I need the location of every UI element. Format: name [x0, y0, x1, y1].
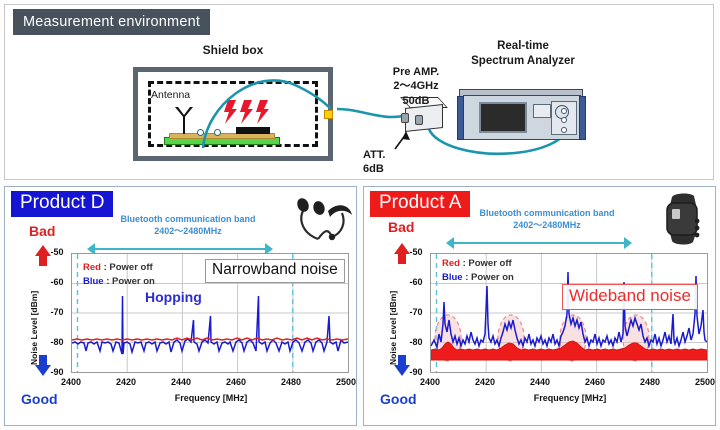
bt-band-title-a: Bluetooth communication band — [442, 207, 652, 219]
preamp-label-line2: 2〜4GHz — [371, 79, 461, 93]
y-tick-a-0: -50 — [405, 247, 427, 257]
measurement-environment-panel: Measurement environment Shield box — [4, 4, 714, 180]
cable-wires — [5, 5, 715, 181]
analyzer-display — [479, 102, 527, 133]
x-tick-d-2: 2440 — [163, 377, 199, 387]
legend-a: Red : Power off Blue : Power on — [442, 257, 514, 285]
bt-band-arrow-a — [446, 237, 632, 249]
legend-sep-d-1: : — [106, 276, 109, 287]
bt-band-range-d: 2402〜2480MHz — [83, 225, 293, 237]
x-tick-a-1: 2420 — [467, 377, 503, 387]
bad-label-d: Bad — [29, 223, 55, 239]
narrowband-noise-callout: Narrowband noise — [205, 259, 345, 283]
y-axis-label-d: Noise Level [dBm] — [29, 291, 39, 365]
analyzer-label: Real-time Spectrum Analyzer — [457, 39, 589, 69]
x-axis-label-d: Frequency [MHz] — [131, 393, 291, 403]
preamp-output-connector — [415, 115, 423, 125]
att-label: ATT. 6dB — [363, 149, 409, 177]
y-tick-d-2: -70 — [46, 307, 68, 317]
legend-d: Red : Power off Blue : Power on — [83, 261, 155, 289]
good-label-d: Good — [21, 391, 58, 407]
legend-value-a-1: Power on — [471, 272, 514, 283]
legend-value-a-0: Power off — [468, 258, 511, 269]
att-pointer-arrow — [391, 129, 415, 151]
x-tick-a-4: 2480 — [632, 377, 668, 387]
preamp-box-icon — [405, 104, 443, 132]
att-label-line2: 6dB — [363, 163, 409, 177]
x-tick-d-1: 2420 — [108, 377, 144, 387]
legend-sep-a-0: : — [463, 258, 466, 269]
bt-arrow-line-d — [94, 248, 266, 250]
hopping-annotation-d: Hopping — [145, 289, 202, 305]
bt-band-annotation-d: Bluetooth communication band 2402〜2480MH… — [83, 213, 293, 237]
slide-root: Measurement environment Shield box — [0, 0, 720, 430]
y-tick-a-1: -60 — [405, 277, 427, 287]
product-a-panel: Product A Bluetooth communication band 2… — [363, 186, 716, 426]
legend-value-d-1: Power on — [112, 276, 155, 287]
product-d-panel: Product D Bluetooth communication band 2… — [4, 186, 357, 426]
y-tick-d-4: -90 — [46, 367, 68, 377]
x-tick-d-4: 2480 — [273, 377, 309, 387]
legend-sep-d-0: : — [104, 262, 107, 273]
legend-key-a-1: Blue — [442, 272, 463, 283]
bt-band-annotation-a: Bluetooth communication band 2402〜2480MH… — [442, 207, 652, 231]
x-tick-a-3: 2460 — [577, 377, 613, 387]
bt-band-range-a: 2402〜2480MHz — [442, 219, 652, 231]
y-tick-a-3: -80 — [405, 337, 427, 347]
x-tick-d-0: 2400 — [53, 377, 89, 387]
legend-row-d-0: Red : Power off — [83, 261, 155, 275]
bad-label-a: Bad — [388, 219, 414, 235]
x-tick-d-5: 2500 — [328, 377, 364, 387]
bt-band-title-d: Bluetooth communication band — [83, 213, 293, 225]
neckband-earphones-icon — [288, 193, 354, 245]
analyzer-label-line2: Spectrum Analyzer — [457, 54, 589, 69]
preamp-label-line3: 50dB — [371, 94, 461, 108]
legend-key-d-0: Red — [83, 262, 101, 273]
y-tick-d-1: -60 — [46, 277, 68, 287]
preamp-label: Pre AMP. 2〜4GHz 50dB — [371, 65, 461, 108]
legend-key-a-0: Red — [442, 258, 460, 269]
x-tick-a-5: 2500 — [687, 377, 720, 387]
legend-key-d-1: Blue — [83, 276, 104, 287]
legend-row-a-1: Blue : Power on — [442, 271, 514, 285]
preamp-input-connector — [401, 113, 409, 123]
y-tick-a-2: -70 — [405, 307, 427, 317]
trace-power-off-d — [72, 338, 348, 340]
y-tick-d-0: -50 — [46, 247, 68, 257]
analyzer-label-line1: Real-time — [457, 39, 589, 54]
wideband-noise-callout: Wideband noise — [562, 284, 698, 310]
y-tick-d-3: -80 — [46, 337, 68, 347]
legend-sep-a-1: : — [465, 272, 468, 283]
att-label-line1: ATT. — [363, 149, 409, 163]
bt-arrow-line-a — [453, 242, 625, 244]
x-tick-a-2: 2440 — [522, 377, 558, 387]
smartwatch-icon — [656, 191, 712, 247]
legend-row-d-1: Blue : Power on — [83, 275, 155, 289]
bt-arrow-head-left-a — [446, 237, 454, 249]
legend-value-d-0: Power off — [109, 262, 152, 273]
y-axis-label-a: Noise Level [dBm] — [388, 291, 398, 365]
x-tick-d-3: 2460 — [218, 377, 254, 387]
analyzer-rack-ear-right — [579, 96, 586, 140]
analyzer-indicator-1 — [561, 108, 567, 114]
analyzer-keypad — [533, 104, 551, 118]
bt-arrow-head-right-a — [624, 237, 632, 249]
good-label-a: Good — [380, 391, 417, 407]
analyzer-indicator-2 — [561, 117, 567, 123]
y-tick-a-4: -90 — [405, 367, 427, 377]
x-tick-a-0: 2400 — [412, 377, 448, 387]
trace-power-off-a — [431, 341, 707, 360]
analyzer-output-port — [561, 127, 567, 133]
trace-power-on-d — [72, 296, 348, 354]
analyzer-rack-ear-left — [457, 96, 464, 140]
x-axis-label-a: Frequency [MHz] — [490, 393, 650, 403]
spectrum-analyzer-icon — [457, 89, 587, 142]
legend-row-a-0: Red : Power off — [442, 257, 514, 271]
preamp-label-line1: Pre AMP. — [371, 65, 461, 79]
